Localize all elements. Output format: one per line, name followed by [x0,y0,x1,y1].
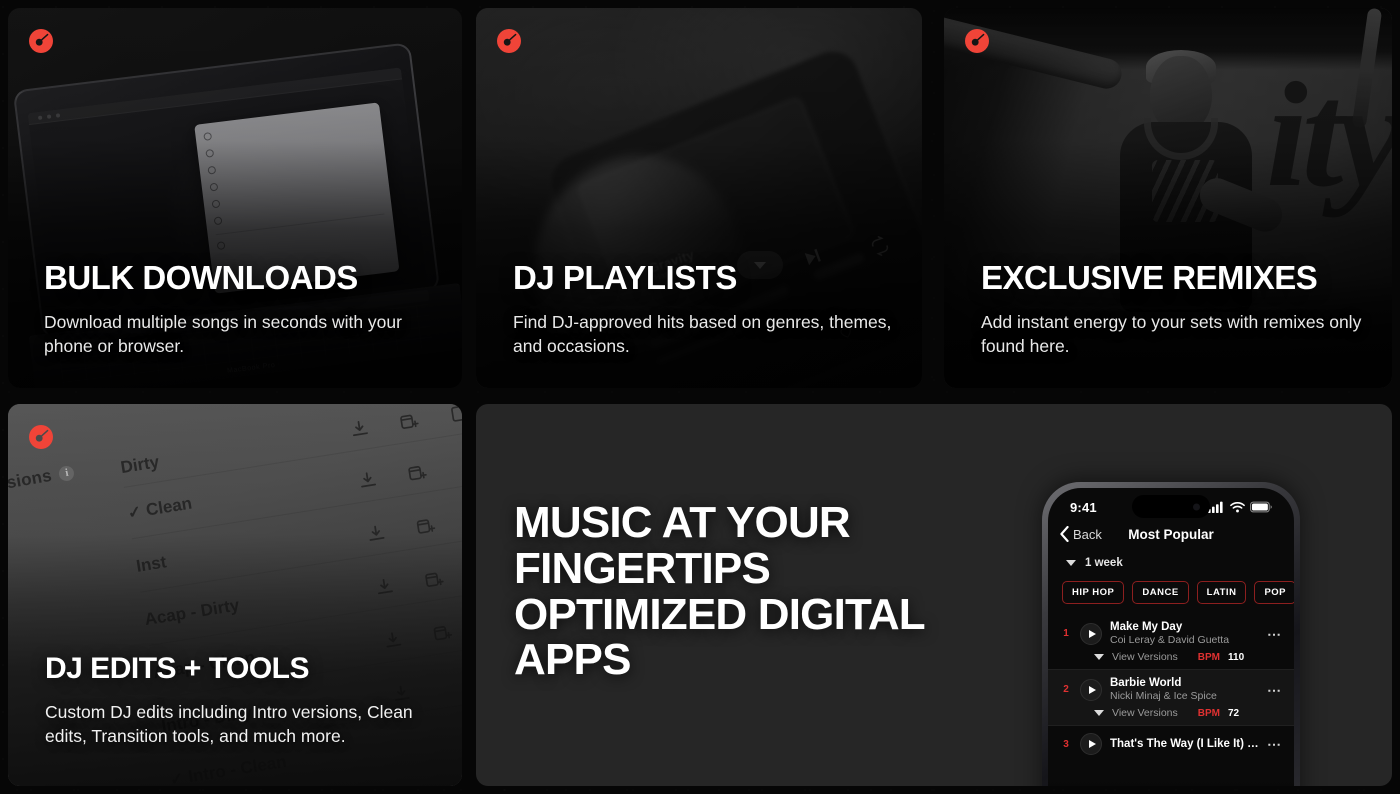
more-horizontal-icon[interactable]: ⋯ [1267,627,1282,641]
vinyl-record-icon [28,424,54,450]
iphone-mock: 9:41 [1042,482,1300,786]
genre-pill-hip-hop[interactable]: HIP HOP [1062,581,1124,604]
card-title: DJ EDITS + TOOLS [45,654,432,684]
chevron-left-icon [1060,526,1069,542]
card-subtitle: Find DJ-approved hits based on genres, t… [513,311,892,358]
view-versions-label[interactable]: View Versions [1112,707,1178,719]
vinyl-record-icon [496,28,522,54]
track-title: Make My Day [1110,621,1259,633]
track-row[interactable]: 2 Barbie World Nicki Minaj & Ice Spice ⋯… [1048,670,1294,725]
battery-icon [1250,501,1272,513]
card-bulk-downloads[interactable]: MacBook Pro BULK DOWNLOADS Download mult… [8,8,462,388]
card-title: MUSIC AT YOUR FINGERTIPS OPTIMIZED DIGIT… [514,500,984,683]
genre-pill-pop[interactable]: POP [1254,581,1294,604]
play-icon[interactable] [1080,679,1102,701]
card-subtitle: Download multiple songs in seconds with … [44,311,432,358]
bottom-fade [1048,778,1294,786]
track-row[interactable]: 3 That's The Way (I Like It) - Mi… ⋯ [1048,726,1294,761]
caret-down-icon[interactable] [1094,710,1104,716]
card-digital-apps[interactable]: MUSIC AT YOUR FINGERTIPS OPTIMIZED DIGIT… [476,404,1392,786]
card-subtitle: Add instant energy to your sets with rem… [981,311,1362,358]
bpm-value: 110 [1228,652,1244,663]
track-title: Barbie World [1110,677,1259,689]
play-icon[interactable] [1080,623,1102,645]
status-bar: 9:41 [1048,488,1294,520]
iphone-screen: 9:41 [1048,488,1294,786]
front-camera-icon [1193,503,1200,510]
card-title: BULK DOWNLOADS [44,261,432,294]
more-horizontal-icon[interactable]: ⋯ [1267,683,1282,697]
caret-down-icon[interactable] [1094,654,1104,660]
track-title: That's The Way (I Like It) - Mi… [1110,738,1259,750]
vinyl-record-icon [28,28,54,54]
track-rank: 3 [1060,739,1072,750]
track-artist: Nicki Minaj & Ice Spice [1110,690,1259,702]
play-icon[interactable] [1080,733,1102,755]
card-title: EXCLUSIVE REMIXES [981,261,1362,294]
genre-pill-dance[interactable]: DANCE [1132,581,1188,604]
caret-down-icon [1066,560,1076,566]
status-time: 9:41 [1070,500,1097,515]
card-exclusive-remixes[interactable]: ity [944,8,1392,388]
track-rank: 2 [1060,684,1072,695]
genre-filter-list[interactable]: HIP HOP DANCE LATIN POP R&B [1048,581,1294,614]
back-label: Back [1073,527,1102,542]
bpm-label: BPM [1198,708,1220,719]
features-grid-page: MacBook Pro BULK DOWNLOADS Download mult… [0,0,1400,794]
genre-pill-latin[interactable]: LATIN [1197,581,1247,604]
card-dj-playlists[interactable]: Gravity Hardik DJ PLAYLISTS [476,8,922,388]
more-horizontal-icon[interactable]: ⋯ [1267,737,1282,751]
bpm-value: 72 [1228,708,1239,719]
status-icons [1208,501,1272,513]
wifi-icon [1230,501,1245,513]
track-rank: 1 [1060,628,1072,639]
track-row[interactable]: 1 Make My Day Coi Leray & David Guetta ⋯… [1048,614,1294,669]
vinyl-record-icon [964,28,990,54]
dynamic-island [1132,495,1210,518]
cellular-bars-icon [1208,501,1225,513]
range-label: 1 week [1085,557,1123,569]
range-filter[interactable]: 1 week [1048,550,1294,581]
card-title: DJ PLAYLISTS [513,261,892,294]
back-button[interactable]: Back [1060,526,1102,542]
bpm-label: BPM [1198,652,1220,663]
nav-bar: Back Most Popular [1048,520,1294,550]
track-artist: Coi Leray & David Guetta [1110,634,1259,646]
card-subtitle: Custom DJ edits including Intro versions… [45,701,432,748]
view-versions-label[interactable]: View Versions [1112,651,1178,663]
card-dj-edits-tools[interactable]: Versions i Dirty [8,404,462,786]
